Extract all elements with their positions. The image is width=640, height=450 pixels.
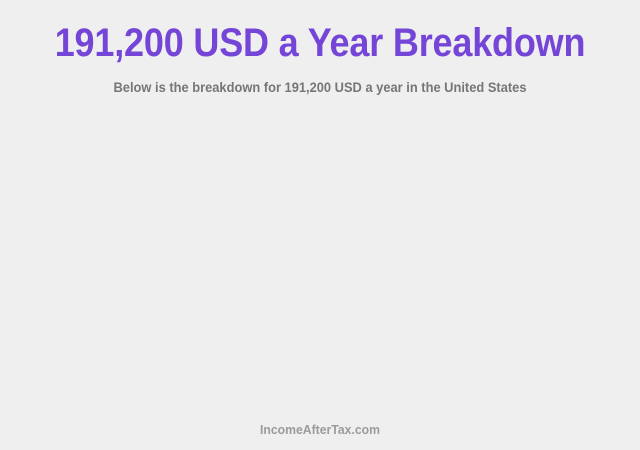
page-subtitle: Below is the breakdown for 191,200 USD a… <box>26 66 615 96</box>
chart-content-area <box>0 96 640 422</box>
site-credit: IncomeAfterTax.com <box>19 422 621 437</box>
page-footer: IncomeAfterTax.com <box>0 422 640 450</box>
page-header: 191,200 USD a Year Breakdown Below is th… <box>0 0 640 96</box>
page-title: 191,200 USD a Year Breakdown <box>32 20 608 66</box>
breakdown-page: 191,200 USD a Year Breakdown Below is th… <box>0 0 640 450</box>
chart-placeholder <box>0 96 640 422</box>
